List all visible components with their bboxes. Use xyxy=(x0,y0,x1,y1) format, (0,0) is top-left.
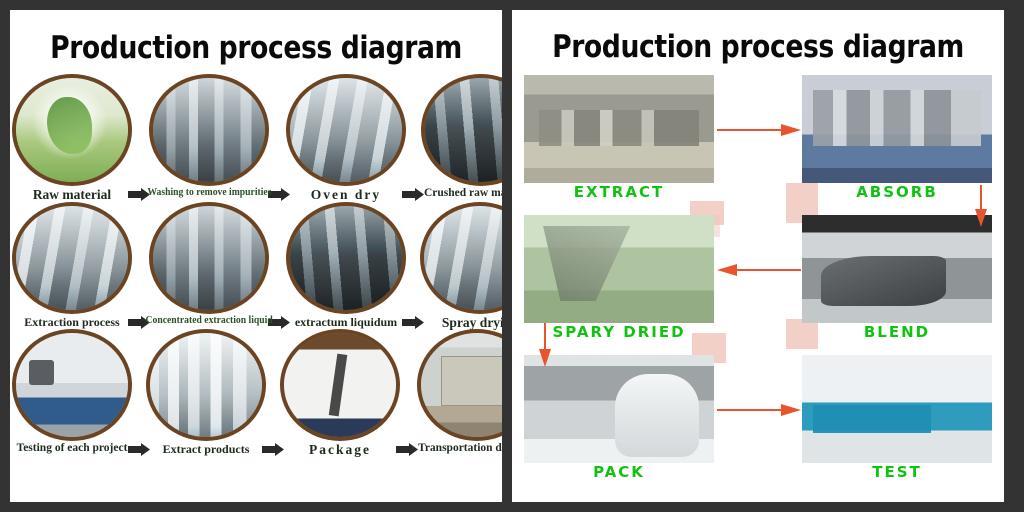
step-thumb xyxy=(284,333,396,437)
step-crushed-raw-materials[interactable]: Crushed raw materials xyxy=(424,78,502,200)
step-raw-material[interactable]: Raw material xyxy=(16,78,128,202)
left-row-1: Raw material Washing to remove impuritie… xyxy=(10,78,502,202)
chevron-right-icon xyxy=(402,316,424,329)
arrow-right-icon xyxy=(717,403,801,417)
left-row-2: Extraction process Concentrated extracti… xyxy=(10,206,502,330)
right-row-2: SPARY DRIED BLEND xyxy=(524,215,992,343)
arrow-absorb-to-blend xyxy=(974,185,988,227)
step-thumb xyxy=(150,333,262,437)
left-arrow-6 xyxy=(402,206,424,329)
step-extract-products[interactable]: Extract products xyxy=(150,333,262,455)
photo-oven-dry xyxy=(290,78,402,182)
photo-crushed-raw-materials xyxy=(425,78,502,182)
step-label: Raw material xyxy=(33,188,111,202)
step-label: Concentrated extraction liquid xyxy=(145,316,272,327)
photo-extractum-liquidum xyxy=(290,206,402,310)
step-blend[interactable] xyxy=(802,215,992,323)
step-thumb xyxy=(290,206,402,310)
photo-package xyxy=(284,333,396,437)
step-absorb[interactable] xyxy=(802,75,992,183)
left-arrow-7 xyxy=(128,333,150,456)
left-steps-grid: Raw material Washing to remove impuritie… xyxy=(10,78,502,457)
step-label: Transportation delivery xyxy=(418,443,502,455)
step-thumb xyxy=(153,206,265,310)
step-concentrated-extraction-liquid[interactable]: Concentrated extraction liquid xyxy=(150,206,268,327)
screenshot-root: Production process diagram Raw material xyxy=(0,0,1024,512)
step-label: Spray drying xyxy=(442,316,502,330)
chevron-right-icon xyxy=(262,443,284,456)
photo-concentrated-extraction-liquid xyxy=(153,206,265,310)
photo-extraction-process xyxy=(16,206,128,310)
photo-testing xyxy=(16,333,128,437)
step-label: Extraction process xyxy=(24,316,119,328)
step-blend-label: BLEND xyxy=(802,323,992,341)
step-label: Oven dry xyxy=(311,188,381,202)
step-pack[interactable] xyxy=(524,355,714,463)
arrow-spary-dried-to-pack xyxy=(538,323,552,367)
step-washing[interactable]: Washing to remove impurities xyxy=(150,78,268,199)
left-arrow-4 xyxy=(128,206,150,329)
photo-raw-material xyxy=(16,78,128,182)
step-extractum-liquidum[interactable]: extractum liquidum xyxy=(290,206,402,328)
step-thumb xyxy=(16,333,128,437)
step-label: Extract products xyxy=(163,443,250,455)
step-spray-drying[interactable]: Spray drying xyxy=(424,206,502,330)
chevron-right-icon xyxy=(128,443,150,456)
photo-washing xyxy=(153,78,265,182)
left-arrow-3 xyxy=(402,78,424,201)
photo-absorb xyxy=(802,75,992,183)
right-row-3: PACK TEST xyxy=(524,355,992,483)
step-absorb-label: ABSORB xyxy=(802,183,992,201)
right-process-panel: Production process diagram EXTRACT ABSOR… xyxy=(512,10,1004,502)
left-process-panel: Production process diagram Raw material xyxy=(10,10,502,502)
chevron-right-icon xyxy=(402,188,424,201)
arrow-pack-to-test xyxy=(717,403,801,417)
step-oven-dry[interactable]: Oven dry xyxy=(290,78,402,202)
arrow-down-icon xyxy=(974,185,988,227)
step-thumb xyxy=(421,333,502,437)
left-panel-title: Production process diagram xyxy=(44,30,467,66)
arrow-left-icon xyxy=(717,263,801,277)
right-steps-grid: EXTRACT ABSORB SPARY DRIED xyxy=(524,75,992,483)
arrow-down-icon xyxy=(538,323,552,367)
step-label: Package xyxy=(309,443,371,457)
step-thumb xyxy=(290,78,402,182)
step-thumb xyxy=(16,206,128,310)
step-label: extractum liquidum xyxy=(295,316,397,328)
photo-extract xyxy=(524,75,714,183)
step-label: Testing of each project xyxy=(17,443,128,455)
step-package[interactable]: Package xyxy=(284,333,396,457)
left-row-3: Testing of each project Extract products xyxy=(10,333,502,457)
step-thumb xyxy=(424,206,502,310)
photo-extract-products xyxy=(150,333,262,437)
step-extraction-process[interactable]: Extraction process xyxy=(16,206,128,328)
photo-test xyxy=(802,355,992,463)
step-pack-label: PACK xyxy=(524,463,714,481)
step-spary-dried[interactable] xyxy=(524,215,714,323)
step-thumb xyxy=(425,78,502,182)
arrow-blend-to-spary-dried xyxy=(717,263,801,277)
arrow-right-icon xyxy=(717,123,801,137)
arrow-extract-to-absorb xyxy=(717,123,801,137)
step-spary-dried-label: SPARY DRIED xyxy=(524,323,714,341)
right-panel-title: Production process diagram xyxy=(546,29,969,65)
step-testing-of-each-project[interactable]: Testing of each project xyxy=(16,333,128,455)
step-transportation-delivery[interactable]: Transportation delivery xyxy=(418,333,502,455)
right-row-1: EXTRACT ABSORB xyxy=(524,75,992,203)
step-extract[interactable] xyxy=(524,75,714,183)
step-extract-label: EXTRACT xyxy=(524,183,714,201)
photo-blend xyxy=(802,215,992,323)
step-label: Crushed raw materials xyxy=(424,188,502,200)
left-arrow-9 xyxy=(396,333,418,456)
step-label: Washing to remove impurities xyxy=(147,188,271,199)
left-arrow-5 xyxy=(268,206,290,329)
photo-spray-drying xyxy=(424,206,502,310)
left-arrow-8 xyxy=(262,333,284,456)
left-arrow-1 xyxy=(128,78,150,201)
step-thumb xyxy=(153,78,265,182)
photo-transportation-delivery xyxy=(421,333,502,437)
step-thumb xyxy=(16,78,128,182)
step-test[interactable] xyxy=(802,355,992,463)
chevron-right-icon xyxy=(396,443,418,456)
left-arrow-2 xyxy=(268,78,290,201)
photo-pack xyxy=(524,355,714,463)
photo-spary-dried xyxy=(524,215,714,323)
step-test-label: TEST xyxy=(802,463,992,481)
